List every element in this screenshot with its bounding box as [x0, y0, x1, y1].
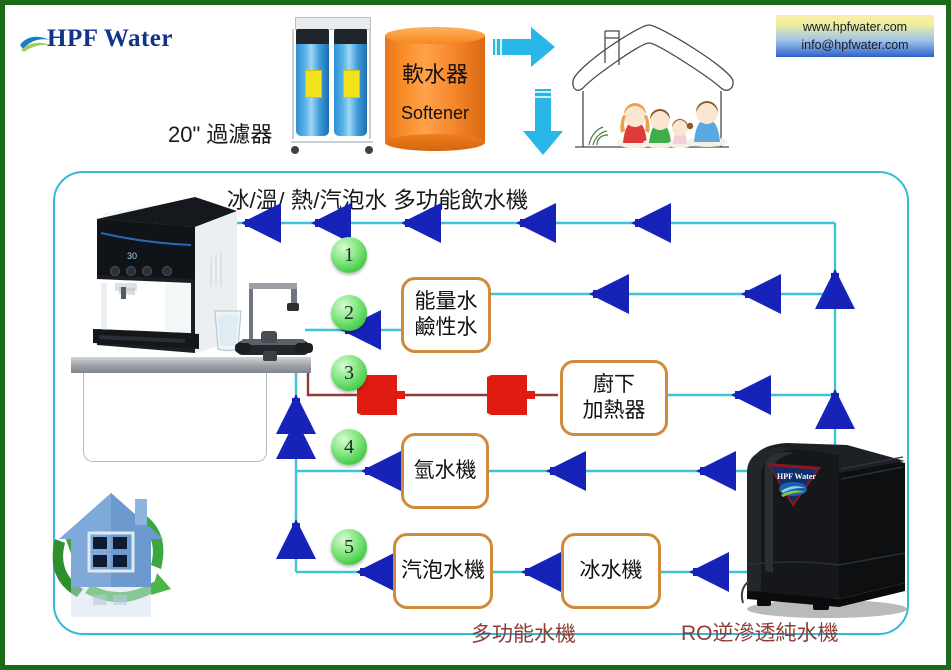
step-circle-3: 3 [331, 355, 367, 391]
svg-text:HPF Water: HPF Water [777, 472, 816, 481]
box-kitchen-heater[interactable]: 廚下 加熱器 [560, 360, 668, 436]
step-circle-5: 5 [331, 529, 367, 565]
eco-recycle-house-icon [31, 477, 191, 629]
multifunction-footer-label: 多功能水機 [471, 618, 576, 648]
box-kitchen-heater-line2: 加熱器 [583, 398, 646, 424]
box-hydrogen-water[interactable]: 氫水機 [401, 433, 489, 509]
step-circle-2: 2 [331, 295, 367, 331]
box-ice-water-label: 冰水機 [580, 558, 643, 584]
box-sparkling-water-label: 汽泡水機 [401, 558, 485, 584]
svg-text:30: 30 [127, 251, 137, 261]
box-energy-water-line1: 能量水 [415, 289, 478, 315]
box-ice-water[interactable]: 冰水機 [561, 533, 661, 609]
box-hydrogen-water-label: 氫水機 [414, 458, 477, 484]
diagram-canvas: HPF Water www.hpfwater.com info@hpfwater… [0, 0, 951, 670]
ro-footer-label: RO逆滲透純水機 [681, 617, 839, 647]
box-energy-water-line2: 鹼性水 [415, 315, 478, 341]
box-kitchen-heater-line1: 廚下 [593, 372, 635, 398]
box-energy-water[interactable]: 能量水 鹼性水 [401, 277, 491, 353]
step-circle-4: 4 [331, 429, 367, 465]
ro-purifier-unit: HPF Water [735, 433, 915, 619]
sink-basin [83, 373, 267, 462]
box-sparkling-water[interactable]: 汽泡水機 [393, 533, 493, 609]
dual-handle-faucet [231, 255, 317, 363]
step-circle-1: 1 [331, 237, 367, 273]
